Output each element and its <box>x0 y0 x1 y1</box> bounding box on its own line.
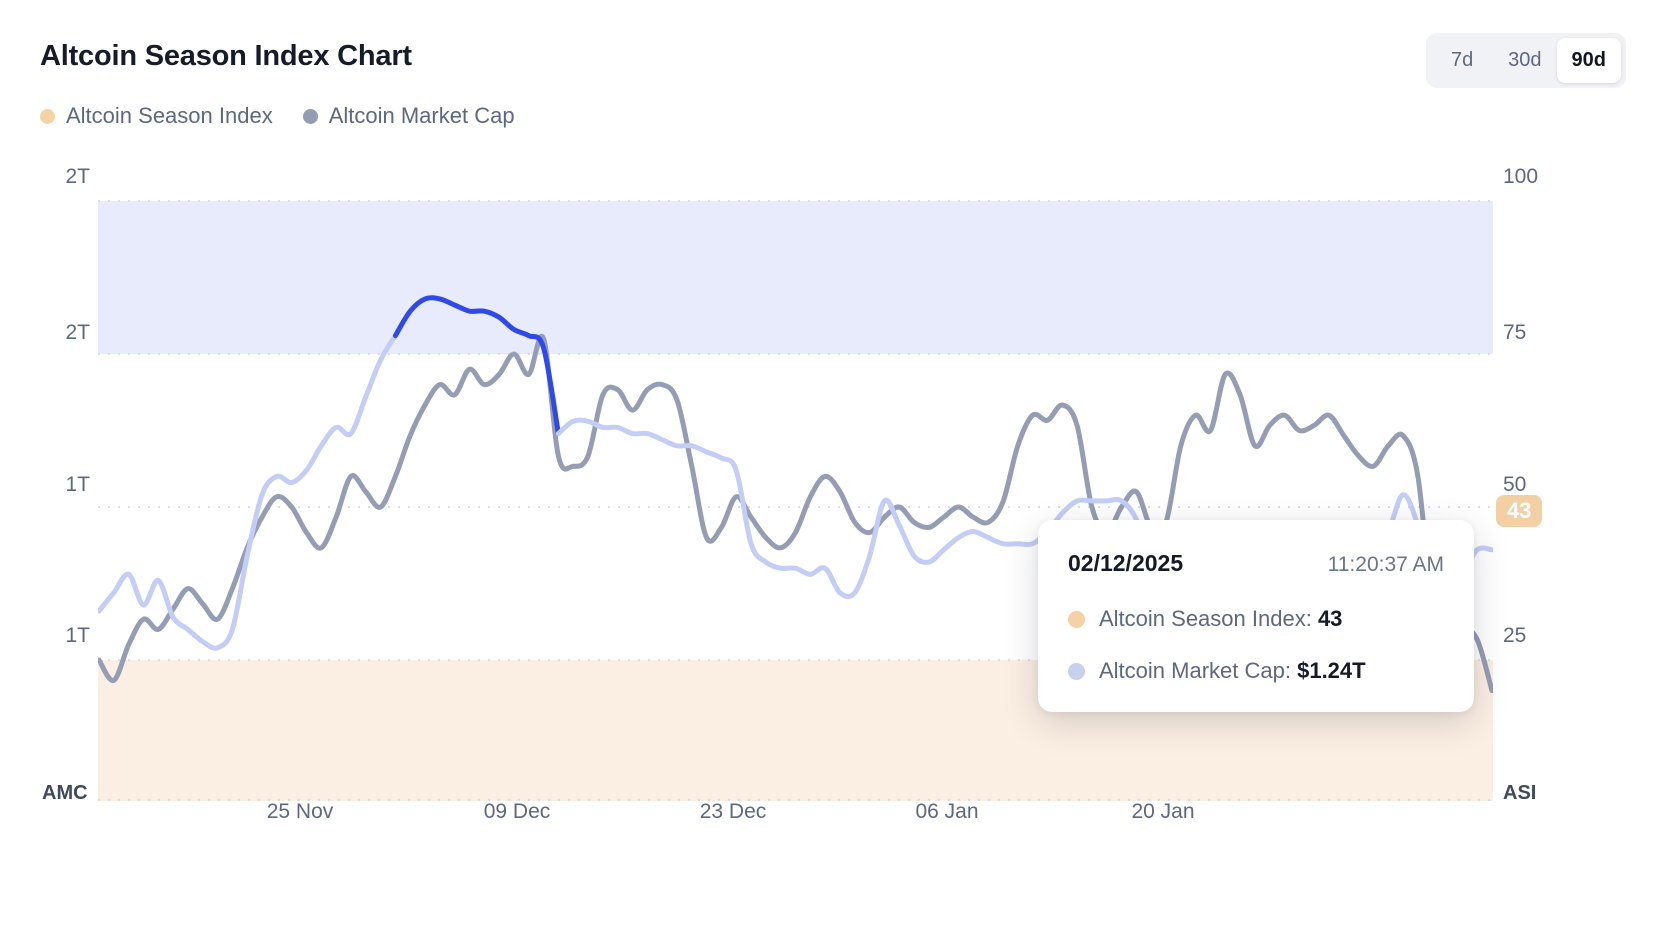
tooltip-dot-icon <box>1068 611 1085 628</box>
page-title: Altcoin Season Index Chart <box>40 40 412 73</box>
tooltip-time: 11:20:37 AM <box>1328 553 1444 577</box>
y-axis-right-tick-3: 25 <box>1503 624 1526 648</box>
tooltip-row-text: Altcoin Season Index: 43 <box>1099 606 1342 632</box>
legend-label: Altcoin Market Cap <box>329 103 515 129</box>
y-axis-right-tick-1: 75 <box>1503 321 1526 345</box>
y-axis-left-tick-3: 1T <box>65 624 90 648</box>
y-axis-left-tick-1: 2T <box>65 321 90 345</box>
tooltip-row-value: 43 <box>1318 606 1342 631</box>
x-axis-tick-3: 06 Jan <box>915 800 978 824</box>
time-range-selector[interactable]: 7d 30d 90d <box>1426 33 1626 88</box>
tooltip-row-label: Altcoin Season Index: <box>1099 606 1312 631</box>
chart-header: Altcoin Season Index Chart 7d 30d 90d <box>0 0 1664 96</box>
tooltip-row-altcoin-market-cap: Altcoin Market Cap: $1.24T <box>1068 658 1444 684</box>
tooltip-header: 02/12/2025 11:20:37 AM <box>1068 550 1444 577</box>
x-axis-tick-4: 20 Jan <box>1131 800 1194 824</box>
legend-dot-icon <box>40 109 55 124</box>
altcoin-season-index-line <box>99 336 395 649</box>
plot-area: 2T 2T 1T 1T 100 75 50 25 43 Altcoin Seas… <box>0 150 1664 850</box>
tooltip-row-label: Altcoin Market Cap: <box>1099 658 1291 683</box>
tooltip-row-value: $1.24T <box>1297 658 1366 683</box>
altcoin-season-band <box>98 201 1493 354</box>
left-axis-name: AMC <box>42 782 88 805</box>
y-axis-right-tick-2: 50 <box>1503 473 1526 497</box>
range-button-30d[interactable]: 30d <box>1493 38 1556 83</box>
tooltip-date: 02/12/2025 <box>1068 550 1183 577</box>
tooltip-row-text: Altcoin Market Cap: $1.24T <box>1099 658 1366 684</box>
y-axis-right-tick-0: 100 <box>1503 165 1538 189</box>
chart-tooltip: 02/12/2025 11:20:37 AM Altcoin Season In… <box>1038 520 1474 712</box>
x-axis-tick-2: 23 Dec <box>700 800 767 824</box>
legend-item-altcoin-market-cap[interactable]: Altcoin Market Cap <box>303 103 515 129</box>
x-axis-tick-1: 09 Dec <box>484 800 551 824</box>
y-axis-left-tick-2: 1T <box>65 473 90 497</box>
right-axis-name: ASI <box>1503 782 1536 805</box>
legend-dot-icon <box>303 109 318 124</box>
tooltip-dot-icon <box>1068 663 1085 680</box>
legend-item-altcoin-season-index[interactable]: Altcoin Season Index <box>40 103 273 129</box>
legend-label: Altcoin Season Index <box>66 103 273 129</box>
x-axis-tick-0: 25 Nov <box>267 800 334 824</box>
current-value-badge: 43 <box>1496 495 1542 527</box>
altcoin-season-chart-card: Altcoin Season Index Chart 7d 30d 90d Al… <box>0 0 1664 935</box>
tooltip-row-altcoin-season-index: Altcoin Season Index: 43 <box>1068 606 1444 632</box>
y-axis-left-tick-0: 2T <box>65 165 90 189</box>
chart-legend: Altcoin Season Index Altcoin Market Cap <box>40 103 515 129</box>
range-button-90d[interactable]: 90d <box>1557 38 1621 83</box>
range-button-7d[interactable]: 7d <box>1431 38 1493 83</box>
